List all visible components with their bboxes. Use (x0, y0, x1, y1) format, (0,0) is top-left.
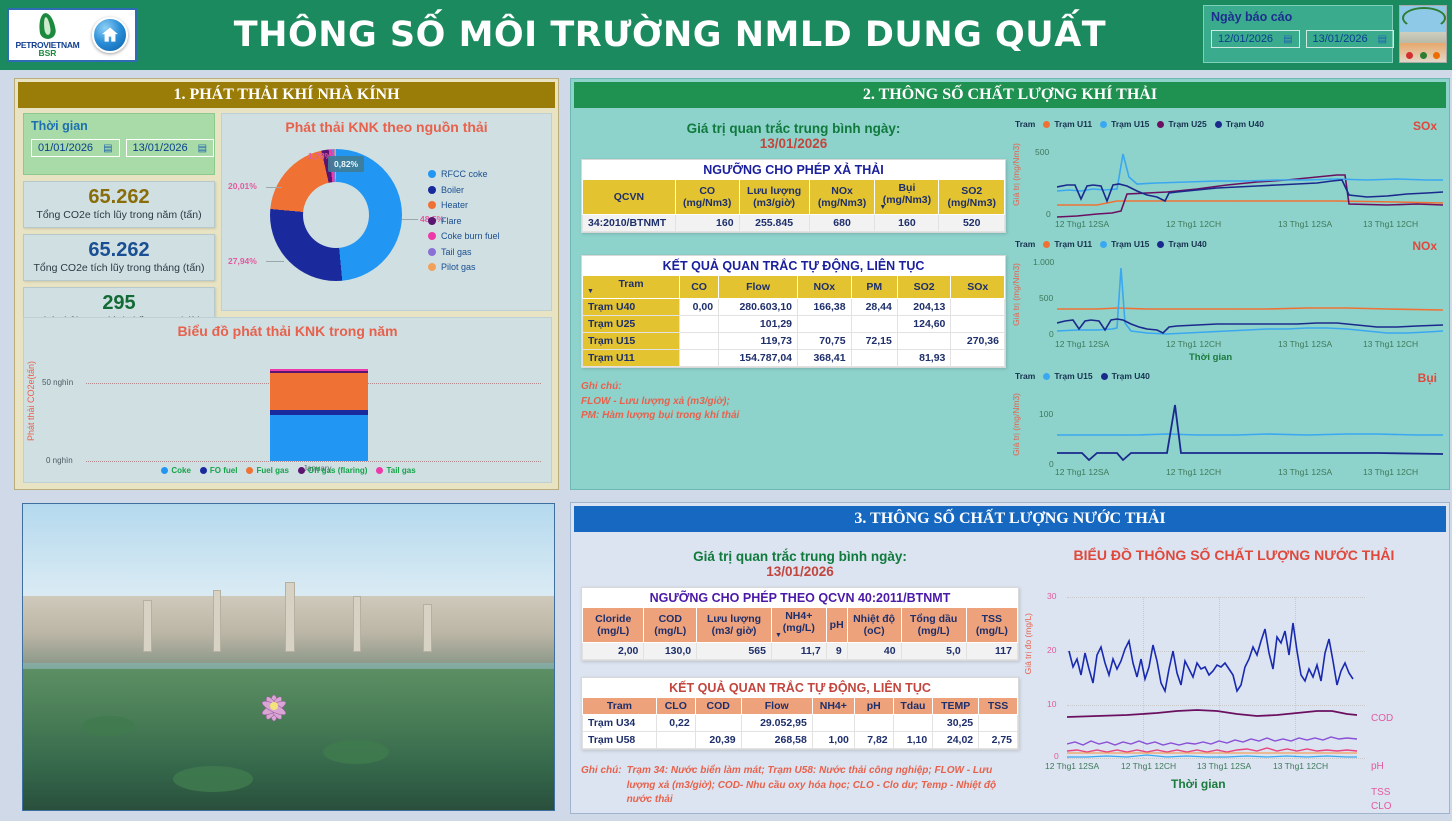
sox-xtick-2: 12 Thg1 12CH (1166, 219, 1221, 229)
threshold-table-caption: NGƯỠNG CHO PHÉP XẢ THẢI (582, 160, 1005, 179)
cell-station: Trạm U40 (583, 299, 680, 316)
bui-xtick-1: 12 Thg1 12SA (1055, 467, 1109, 477)
th-co[interactable]: CO (mg/Nm3) (675, 180, 739, 215)
legend-item[interactable]: Trạm U11 (1043, 239, 1092, 249)
table-row: 2,00 130,0 565 11,7 9 40 5,0 117 (583, 643, 1018, 660)
report-date-panel: Ngày báo cáo 12/01/2026 ▤ 13/01/2026 ▤ (1203, 5, 1393, 63)
ww-auto-table[interactable]: Tram CLO COD Flow NH4+ pH Tdau TEMP TSS … (582, 697, 1018, 749)
note-line-1: FLOW - Lưu lượng xả (m3/giờ); (581, 395, 1006, 410)
nox-xtick-3: 13 Thg1 12SA (1278, 339, 1332, 349)
cell-sox (951, 299, 1005, 316)
cell-nox: 680 (809, 215, 875, 232)
th-temp[interactable]: Nhiệt độ (oC) (847, 608, 901, 643)
th-tram[interactable]: Tram▼ (583, 276, 680, 299)
th-sox[interactable]: SOx (951, 276, 1005, 299)
sox-chart[interactable]: Tram Trạm U11 Trạm U15 Trạm U25 Trạm U40… (1011, 119, 1443, 239)
bar-ytick-50k: 50 nghìn (42, 378, 73, 387)
nox-plot (1057, 261, 1443, 339)
note-title: Ghi chú: (581, 380, 1006, 395)
th-nox[interactable]: NOx (798, 276, 852, 299)
ww-ytick-10: 10 (1047, 699, 1056, 709)
panel2-subdate: 13/01/2026 (581, 136, 1006, 151)
legend-item[interactable]: Trạm U40 (1157, 239, 1206, 249)
panel2-title: 2. THÔNG SỐ CHẤT LƯỢNG KHÍ THẢI (574, 82, 1446, 108)
th-tram[interactable]: Tram (583, 698, 657, 715)
note-line-2: PM: Hàm lượng bụi trong khí thải (581, 409, 1006, 424)
nox-ytick-0: 0 (1049, 329, 1054, 339)
nox-xtick-2: 12 Thg1 12CH (1166, 339, 1221, 349)
th-flow[interactable]: Flow (719, 276, 798, 299)
cell-clo (656, 732, 695, 749)
table-row[interactable]: Trạm U40 0,00 280.603,10 166,38 28,44 20… (583, 299, 1005, 316)
ww-xtick-3: 13 Thg1 12SA (1197, 761, 1251, 771)
panel1-title: 1. PHÁT THẢI KHÍ NHÀ KÍNH (18, 82, 555, 108)
calendar-icon[interactable]: ▤ (198, 143, 207, 154)
cell-nh4: 11,7 (771, 643, 826, 660)
home-icon[interactable] (92, 17, 128, 53)
th-cod[interactable]: COD (mg/L) (644, 608, 697, 643)
cell-tss: 117 (966, 643, 1017, 660)
auto-table-caption: KẾT QUẢ QUAN TRẮC TỰ ĐỘNG, LIÊN TỤC (582, 256, 1005, 275)
cell-tdau (893, 715, 933, 732)
legend-item[interactable]: Trạm U15 (1100, 119, 1149, 129)
cell-clo: 0,22 (656, 715, 695, 732)
cell-nh4 (812, 715, 854, 732)
th-so2[interactable]: SO2 (mg/Nm3) (939, 180, 1005, 215)
legend-item[interactable]: RFCC coke (428, 169, 548, 179)
calendar-icon[interactable]: ▤ (103, 143, 112, 154)
auto-table-card: KẾT QUẢ QUAN TRẮC TỰ ĐỘNG, LIÊN TỤC Tram… (581, 255, 1006, 368)
cell-flow: 565 (697, 643, 772, 660)
bui-xtick-3: 13 Thg1 12SA (1278, 467, 1332, 477)
cell-co (680, 316, 719, 333)
cell-tdau: 1,10 (893, 732, 933, 749)
report-date-to[interactable]: 13/01/2026 ▤ (1306, 30, 1395, 48)
table-row[interactable]: Trạm U15 119,73 70,75 72,15 270,36 (583, 333, 1005, 350)
cell-so2: 204,13 (897, 299, 951, 316)
cell-flow: 255.845 (739, 215, 809, 232)
cell-ph: 9 (826, 643, 847, 660)
bar-ytick-0: 0 nghìn (46, 456, 73, 465)
table-row[interactable]: Trạm U58 20,39 268,58 1,00 7,82 1,10 24,… (583, 732, 1018, 749)
cell-so2 (897, 333, 951, 350)
cell-co (680, 333, 719, 350)
cell-tss (979, 715, 1018, 732)
th-flow[interactable]: Lưu lượng (m3/giờ) (739, 180, 809, 215)
wastewater-chart[interactable]: BIỂU ĐỒ THÔNG SỐ CHẤT LƯỢNG NƯỚC THẢI Gi… (1023, 547, 1445, 807)
th-so2[interactable]: SO2 (897, 276, 951, 299)
legend-item[interactable]: Coke burn fuel (428, 231, 548, 241)
donut-legend: RFCC coke Boiler Heater Flare Coke burn … (428, 169, 548, 278)
cell-oil: 5,0 (901, 643, 966, 660)
legend-item[interactable]: Trạm U40 (1101, 371, 1150, 381)
panel-wastewater-quality: 3. THÔNG SỐ CHẤT LƯỢNG NƯỚC THẢI Giá trị… (570, 502, 1450, 814)
ww-ylabel: Giá trị đo (mg/L) (1023, 613, 1033, 674)
th-cod[interactable]: COD (695, 698, 741, 715)
note-text: Trạm 34: Nước biển làm mát; Trạm U58: Nư… (627, 764, 1019, 808)
cell-cloride: 2,00 (583, 643, 644, 660)
cell-temp: 24,02 (933, 732, 979, 749)
time-filter-from[interactable]: 01/01/2026 ▤ (31, 139, 120, 157)
th-ph[interactable]: pH (854, 698, 893, 715)
report-date-label: Ngày báo cáo (1211, 10, 1385, 24)
panel2-subhead: Giá trị quan trắc trung bình ngày: (581, 121, 1006, 136)
cell-nox: 166,38 (798, 299, 852, 316)
table-header-row: Cloride (mg/L) COD (mg/L) Lưu lượng (m3/… (583, 608, 1018, 643)
cell-bui: 160 (875, 215, 939, 232)
nox-ytick-500: 500 (1039, 293, 1053, 303)
th-ph[interactable]: pH (826, 608, 847, 643)
donut-tooltip: 0,82% (328, 156, 364, 172)
cell-sox (951, 316, 1005, 333)
panel-greenhouse-gas: 1. PHÁT THẢI KHÍ NHÀ KÍNH Thời gian 01/0… (14, 78, 559, 490)
cell-flow: 119,73 (719, 333, 798, 350)
ww-plot (1067, 597, 1367, 759)
ww-series-label-ph: pH (1371, 761, 1384, 772)
legend-title: Tram (1015, 119, 1035, 129)
nox-xtick-4: 13 Thg1 12CH (1363, 339, 1418, 349)
ww-threshold-table[interactable]: Cloride (mg/L) COD (mg/L) Lưu lượng (m3/… (582, 607, 1018, 660)
legend-item[interactable]: Heater (428, 200, 548, 210)
page-title: THÔNG SỐ MÔI TRƯỜNG NMLD DUNG QUẤT (150, 0, 1190, 70)
logo-line2: BSR (39, 49, 57, 58)
nox-xlabel: Thời gian (1189, 352, 1232, 363)
legend-item[interactable]: Pilot gas (428, 262, 548, 272)
table-header-row: Tram CLO COD Flow NH4+ pH Tdau TEMP TSS (583, 698, 1018, 715)
cell-pm (851, 350, 897, 367)
legend-item[interactable]: Boiler (428, 185, 548, 195)
cell-station: Trạm U25 (583, 316, 680, 333)
th-oil[interactable]: Tổng dầu (mg/L) (901, 608, 966, 643)
panel3-subdate: 13/01/2026 (581, 564, 1019, 579)
bui-chart[interactable]: Tram Trạm U15 Trạm U40 Bụi Giá trị (mg/N… (1011, 371, 1443, 489)
cell-so2: 124,60 (897, 316, 951, 333)
donut-callout-3: 27,94% (228, 256, 257, 266)
ww-xtick-4: 13 Thg1 12CH (1273, 761, 1328, 771)
flame-icon (38, 12, 57, 40)
th-co[interactable]: CO (680, 276, 719, 299)
time-filter-label: Thời gian (31, 119, 207, 133)
panel3-subhead: Giá trị quan trắc trung bình ngày: (581, 549, 1019, 564)
bui-xtick-4: 13 Thg1 12CH (1363, 467, 1418, 477)
donut-chart-title: Phát thải KNK theo nguồn thải (222, 114, 551, 135)
legend-item[interactable]: Fuel gas (246, 466, 288, 475)
sox-param-label: SOx (1413, 119, 1437, 133)
bar-chart-ylabel: Phát thải CO2e(tấn) (26, 361, 36, 441)
th-flow[interactable]: Flow (741, 698, 812, 715)
legend-item[interactable]: Trạm U25 (1157, 119, 1206, 129)
ww-series-label-clo: CLO (1371, 801, 1392, 812)
table-row: 34:2010/BTNMT 160 255.845 680 160 520 (583, 215, 1005, 232)
cell-flow: 29.052,95 (741, 715, 812, 732)
table-row[interactable]: Trạm U34 0,22 29.052,95 30,25 (583, 715, 1018, 732)
th-tdau[interactable]: Tdau (893, 698, 933, 715)
th-pm[interactable]: PM (851, 276, 897, 299)
nox-param-label: NOx (1412, 239, 1437, 253)
legend-item[interactable]: Trạm U40 (1215, 119, 1264, 129)
sox-xtick-3: 13 Thg1 12SA (1278, 219, 1332, 229)
legend-item[interactable]: Trạm U15 (1043, 371, 1092, 381)
time-filter-to[interactable]: 13/01/2026 ▤ (126, 139, 215, 157)
table-header-row: QCVN CO (mg/Nm3) Lưu lượng (m3/giờ) NOx … (583, 180, 1005, 215)
lotus-flower-icon (251, 682, 297, 728)
nox-xtick-1: 12 Thg1 12SA (1055, 339, 1109, 349)
table-header-row: Tram▼ CO Flow NOx PM SO2 SOx (583, 276, 1005, 299)
kpi-month-value: 65.262 (28, 239, 210, 262)
cell-sox (951, 350, 1005, 367)
cell-so2: 520 (939, 215, 1005, 232)
petrovietnam-logo-icon: PETROVIETNAM BSR (16, 13, 80, 58)
cell-cod: 130,0 (644, 643, 697, 660)
legend-item[interactable]: Coke (161, 466, 191, 475)
cell-pm: 28,44 (851, 299, 897, 316)
calendar-icon[interactable]: ▤ (1378, 34, 1387, 45)
th-cloride[interactable]: Cloride (mg/L) (583, 608, 644, 643)
ww-xlabel: Thời gian (1171, 777, 1226, 791)
th-flow[interactable]: Lưu lượng (m3/ giờ) (697, 608, 772, 643)
time-filter: Thời gian 01/01/2026 ▤ 13/01/2026 ▤ (23, 113, 215, 175)
legend-item[interactable]: Trạm U15 (1100, 239, 1149, 249)
cell-temp: 30,25 (933, 715, 979, 732)
cell-flow: 268,58 (741, 732, 812, 749)
sox-ytick-0: 0 (1046, 209, 1051, 219)
refinery-photo (22, 503, 555, 811)
report-date-from[interactable]: 12/01/2026 ▤ (1211, 30, 1300, 48)
legend-item[interactable]: Flare (428, 216, 548, 226)
bui-xtick-2: 12 Thg1 12CH (1166, 467, 1221, 477)
cell-pm: 72,15 (851, 333, 897, 350)
nox-chart[interactable]: Tram Trạm U11 Trạm U15 Trạm U40 NOx Giá … (1011, 239, 1443, 374)
ww-ytick-30: 30 (1047, 591, 1056, 601)
ww-xtick-1: 12 Thg1 12SA (1045, 761, 1099, 771)
bar-chart-legend: Coke FO fuel Fuel gas Off gas (flaring) … (24, 466, 553, 475)
donut-chart[interactable]: 1,78% 20,01% 27,94% 48,5% 0,82% RFCC cok… (222, 135, 553, 305)
kpi-card-year: 65.262 Tổng CO2e tích lũy trong năm (tấn… (23, 181, 215, 228)
bar-chart[interactable]: Phát thải CO2e(tấn) 50 nghìn 0 nghìn Jan… (24, 339, 553, 479)
kpi-card-month: 65.262 Tổng CO2e tích lũy trong tháng (t… (23, 234, 215, 281)
cell-flow: 280.603,10 (719, 299, 798, 316)
ww-chart-title: BIỂU ĐỒ THÔNG SỐ CHẤT LƯỢNG NƯỚC THẢI (1023, 547, 1445, 563)
ww-series-label-cod: COD (1371, 713, 1393, 724)
bar-chart-card: Biểu đồ phát thải KNK trong năm Phát thả… (23, 317, 552, 483)
kpi-month-label: Tổng CO2e tích lũy trong tháng (tấn) (28, 262, 210, 274)
cell-flow: 101,29 (719, 316, 798, 333)
ww-threshold-table-card: NGƯỠNG CHO PHÉP THEO QCVN 40:2011/BTNMT … (581, 587, 1019, 661)
cell-station: Trạm U15 (583, 333, 680, 350)
donut-chart-card: Phát thải KNK theo nguồn thải 1,78% 20,0… (221, 113, 552, 311)
cell-co (680, 350, 719, 367)
bui-ytick-100: 100 (1039, 409, 1053, 419)
cell-station: Trạm U34 (583, 715, 657, 732)
table-row[interactable]: Trạm U11 154.787,04 368,41 81,93 (583, 350, 1005, 367)
ww-xtick-2: 12 Thg1 12CH (1121, 761, 1176, 771)
threshold-table[interactable]: QCVN CO (mg/Nm3) Lưu lượng (m3/giờ) NOx … (582, 179, 1005, 232)
bui-param-label: Bụi (1418, 371, 1437, 385)
sox-xtick-4: 13 Thg1 12CH (1363, 219, 1418, 229)
legend-title: Tram (1015, 371, 1035, 381)
table-row[interactable]: Trạm U25 101,29 124,60 (583, 316, 1005, 333)
th-nh4[interactable]: NH4+ (812, 698, 854, 715)
cell-co: 160 (675, 215, 739, 232)
th-qcvn[interactable]: QCVN (583, 180, 676, 215)
cell-so2: 81,93 (897, 350, 951, 367)
cell-flow: 154.787,04 (719, 350, 798, 367)
th-nh4[interactable]: NH4+ (mg/L)▼ (771, 608, 826, 643)
ww-series-label-tss: TSS (1371, 787, 1390, 798)
ww-ytick-20: 20 (1047, 645, 1056, 655)
ww-auto-caption: KẾT QUẢ QUAN TRẮC TỰ ĐỘNG, LIÊN TỤC (582, 678, 1018, 697)
note-title: Ghi chú: (581, 764, 622, 808)
ww-auto-table-card: KẾT QUẢ QUAN TRẮC TỰ ĐỘNG, LIÊN TỤC Tram… (581, 677, 1019, 750)
th-bui[interactable]: Bụi (mg/Nm3)▼ (875, 180, 939, 215)
bar-chart-title: Biểu đồ phát thải KNK trong năm (24, 318, 551, 339)
panel3-note: Ghi chú: Trạm 34: Nước biển làm mát; Trạ… (581, 764, 1019, 808)
cell-ph: 7,82 (854, 732, 893, 749)
th-tss[interactable]: TSS (mg/L) (966, 608, 1017, 643)
kpi-average-value: 295 (28, 292, 210, 315)
calendar-icon[interactable]: ▤ (1283, 34, 1292, 45)
kpi-year-value: 65.262 (28, 186, 210, 209)
cell-qcvn: 34:2010/BTNMT (583, 215, 676, 232)
time-filter-from-value: 01/01/2026 (38, 142, 93, 154)
company-logo: PETROVIETNAM BSR (7, 8, 137, 62)
nox-ytick-1000: 1.000 (1033, 257, 1054, 267)
refinery-thumbnail-image (1399, 5, 1447, 63)
cell-pm (851, 316, 897, 333)
cell-ph (854, 715, 893, 732)
cell-nox: 368,41 (798, 350, 852, 367)
bar-stack-january[interactable] (270, 369, 368, 461)
legend-title: Tram (1015, 239, 1035, 249)
cell-nh4: 1,00 (812, 732, 854, 749)
ww-threshold-caption: NGƯỠNG CHO PHÉP THEO QCVN 40:2011/BTNMT (582, 588, 1018, 607)
sox-plot (1057, 149, 1443, 219)
donut-callout-2: 20,01% (228, 181, 257, 191)
th-temp[interactable]: TEMP (933, 698, 979, 715)
cell-nox (798, 316, 852, 333)
bui-plot (1057, 397, 1443, 467)
cell-sox: 270,36 (951, 333, 1005, 350)
legend-item[interactable]: FO fuel (200, 466, 238, 475)
nox-ylabel: Giá trị (mg/Nm3) (1011, 263, 1021, 326)
legend-item[interactable]: Off gas (flaring) (298, 466, 368, 475)
legend-item[interactable]: Tail gas (376, 466, 415, 475)
sox-ylabel: Giá trị (mg/Nm3) (1011, 143, 1021, 206)
cell-cod: 20,39 (695, 732, 741, 749)
panel3-title: 3. THÔNG SỐ CHẤT LƯỢNG NƯỚC THẢI (574, 506, 1446, 532)
sox-ytick-500: 500 (1035, 147, 1049, 157)
cell-temp: 40 (847, 643, 901, 660)
th-clo[interactable]: CLO (656, 698, 695, 715)
cell-station: Trạm U58 (583, 732, 657, 749)
panel1-kpi-column: Thời gian 01/01/2026 ▤ 13/01/2026 ▤ 65.2… (23, 113, 215, 311)
auto-monitor-table[interactable]: Tram▼ CO Flow NOx PM SO2 SOx Trạm U40 0,… (582, 275, 1005, 367)
app-header: PETROVIETNAM BSR THÔNG SỐ MÔI TRƯỜNG NML… (0, 0, 1452, 70)
panel-air-quality: 2. THÔNG SỐ CHẤT LƯỢNG KHÍ THẢI Giá trị … (570, 78, 1450, 490)
cell-nox: 70,75 (798, 333, 852, 350)
threshold-table-card: NGƯỠNG CHO PHÉP XẢ THẢI QCVN CO (mg/Nm3)… (581, 159, 1006, 233)
report-date-to-value: 13/01/2026 (1313, 33, 1368, 45)
th-tss[interactable]: TSS (979, 698, 1018, 715)
ww-ytick-0: 0 (1054, 751, 1059, 761)
legend-item[interactable]: Tail gas (428, 247, 548, 257)
kpi-year-label: Tổng CO2e tích lũy trong năm (tấn) (28, 209, 210, 221)
cell-cod (695, 715, 741, 732)
panel2-note: Ghi chú: FLOW - Lưu lượng xả (m3/giờ); P… (581, 380, 1006, 424)
legend-item[interactable]: Trạm U11 (1043, 119, 1092, 129)
bui-ytick-0: 0 (1049, 459, 1054, 469)
cell-co: 0,00 (680, 299, 719, 316)
cell-tss: 2,75 (979, 732, 1018, 749)
time-filter-to-value: 13/01/2026 (133, 142, 188, 154)
cell-station: Trạm U11 (583, 350, 680, 367)
th-nox[interactable]: NOx (mg/Nm3) (809, 180, 875, 215)
sox-xtick-1: 12 Thg1 12SA (1055, 219, 1109, 229)
bui-ylabel: Giá trị (mg/Nm3) (1011, 393, 1021, 456)
report-date-from-value: 12/01/2026 (1218, 33, 1273, 45)
